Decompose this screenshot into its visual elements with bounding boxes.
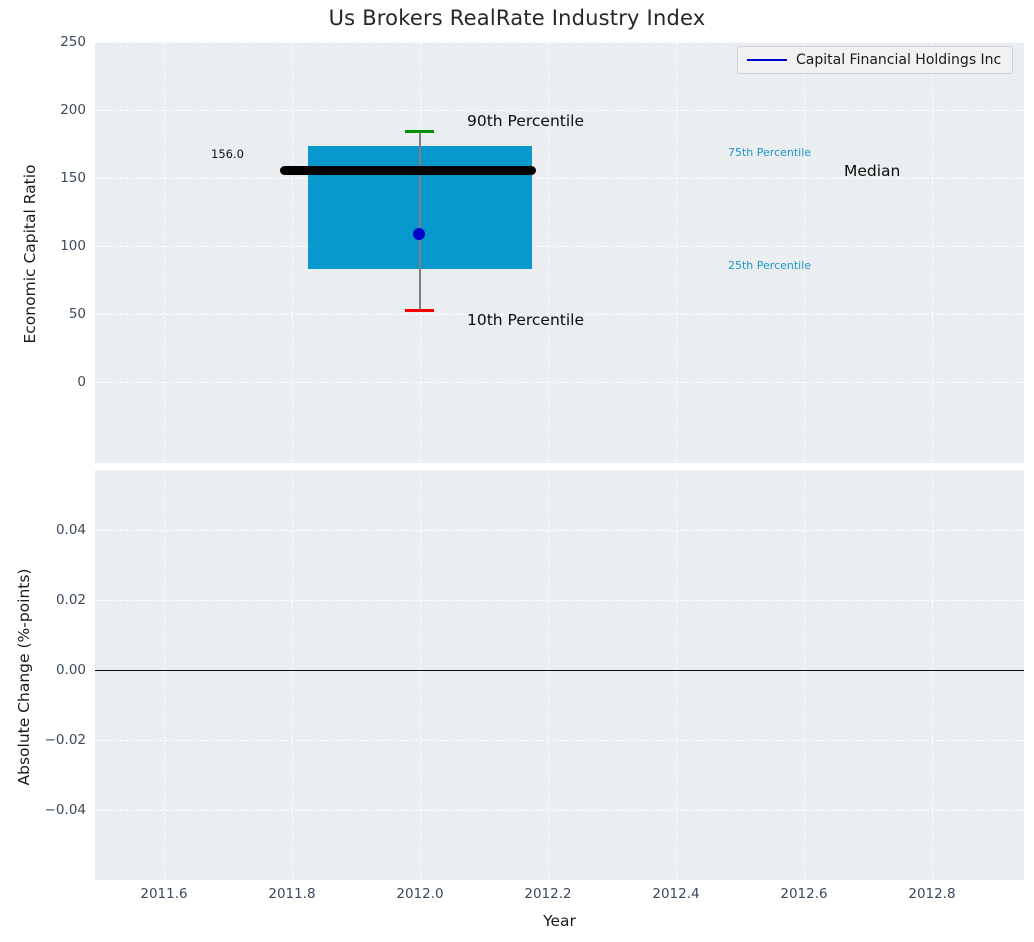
y-axis-label-top: Economic Capital Ratio [21, 54, 39, 454]
gridline-y--0.02 [95, 740, 1024, 741]
gridline-y-0.02 [95, 600, 1024, 601]
gridline-x-2012.4 [676, 42, 677, 463]
x-tick-2011.8: 2011.8 [268, 886, 315, 902]
whisker-line [419, 131, 421, 310]
gridline-y-100 [95, 246, 1024, 247]
gridline-x-2012.8-lower [932, 470, 933, 880]
legend[interactable]: Capital Financial Holdings Inc [737, 46, 1013, 74]
annotation-10th-percentile: 10th Percentile [467, 311, 584, 329]
plot-area-absolute-change [95, 470, 1024, 880]
annotation-median-value: 156.0 [211, 147, 244, 161]
gridline-y-0.04 [95, 530, 1024, 531]
zero-reference-line [95, 670, 1024, 671]
annotation-median: Median [844, 162, 900, 180]
y-tick-250: 250 [8, 34, 86, 50]
x-axis-label: Year [95, 912, 1024, 930]
x-tick-2012.2: 2012.2 [524, 886, 571, 902]
gridline-x-2012.8 [932, 42, 933, 463]
x-tick-2012.0: 2012.0 [396, 886, 443, 902]
x-tick-2011.6: 2011.6 [140, 886, 187, 902]
gridline-x-2011.6-lower [164, 470, 165, 880]
gridline-x-2012.6 [804, 42, 805, 463]
median-line [280, 166, 536, 175]
y-tick-150: 150 [8, 170, 86, 186]
whisker-cap-90th [405, 130, 434, 133]
gridline-x-2012.0-lower [420, 470, 421, 880]
gridline-x-2011.8-lower [292, 470, 293, 880]
whisker-cap-10th [405, 309, 434, 312]
x-tick-2012.6: 2012.6 [780, 886, 827, 902]
gridline-y-250 [95, 42, 1024, 43]
y-tick-200: 200 [8, 102, 86, 118]
legend-swatch-capital-financial-holdings-inc [747, 59, 787, 61]
y-tick-100: 100 [8, 238, 86, 254]
gridline-x-2012.2 [548, 42, 549, 463]
chart-figure: Us Brokers RealRate Industry Index 156.0 [0, 0, 1034, 942]
legend-label-capital-financial-holdings-inc: Capital Financial Holdings Inc [796, 52, 1001, 68]
y-tick-0: 0 [8, 374, 86, 390]
gridline-y--0.04 [95, 810, 1024, 811]
gridline-x-2012.2-lower [548, 470, 549, 880]
gridline-x-2012.6-lower [804, 470, 805, 880]
gridline-x-2011.8 [292, 42, 293, 463]
y-axis-label-bottom: Absolute Change (%-points) [15, 477, 33, 877]
annotation-25th-percentile: 25th Percentile [728, 259, 811, 272]
x-tick-2012.8: 2012.8 [908, 886, 955, 902]
y-tick-50: 50 [8, 306, 86, 322]
y-axis-ticks-bottom: 0.04 0.02 0.00 −0.02 −0.04 [0, 470, 86, 880]
annotation-90th-percentile: 90th Percentile [467, 112, 584, 130]
x-tick-2012.4: 2012.4 [652, 886, 699, 902]
gridline-x-2012.4-lower [676, 470, 677, 880]
gridline-x-2011.6 [164, 42, 165, 463]
plot-area-economic-capital-ratio: 156.0 90th Percentile Median 75th Percen… [95, 42, 1024, 463]
gridline-y-0 [95, 382, 1024, 383]
chart-title: Us Brokers RealRate Industry Index [0, 6, 1034, 30]
annotation-75th-percentile: 75th Percentile [728, 146, 811, 159]
y-axis-ticks-top: 250 200 150 100 50 0 [0, 42, 86, 463]
gridline-y-200 [95, 110, 1024, 111]
